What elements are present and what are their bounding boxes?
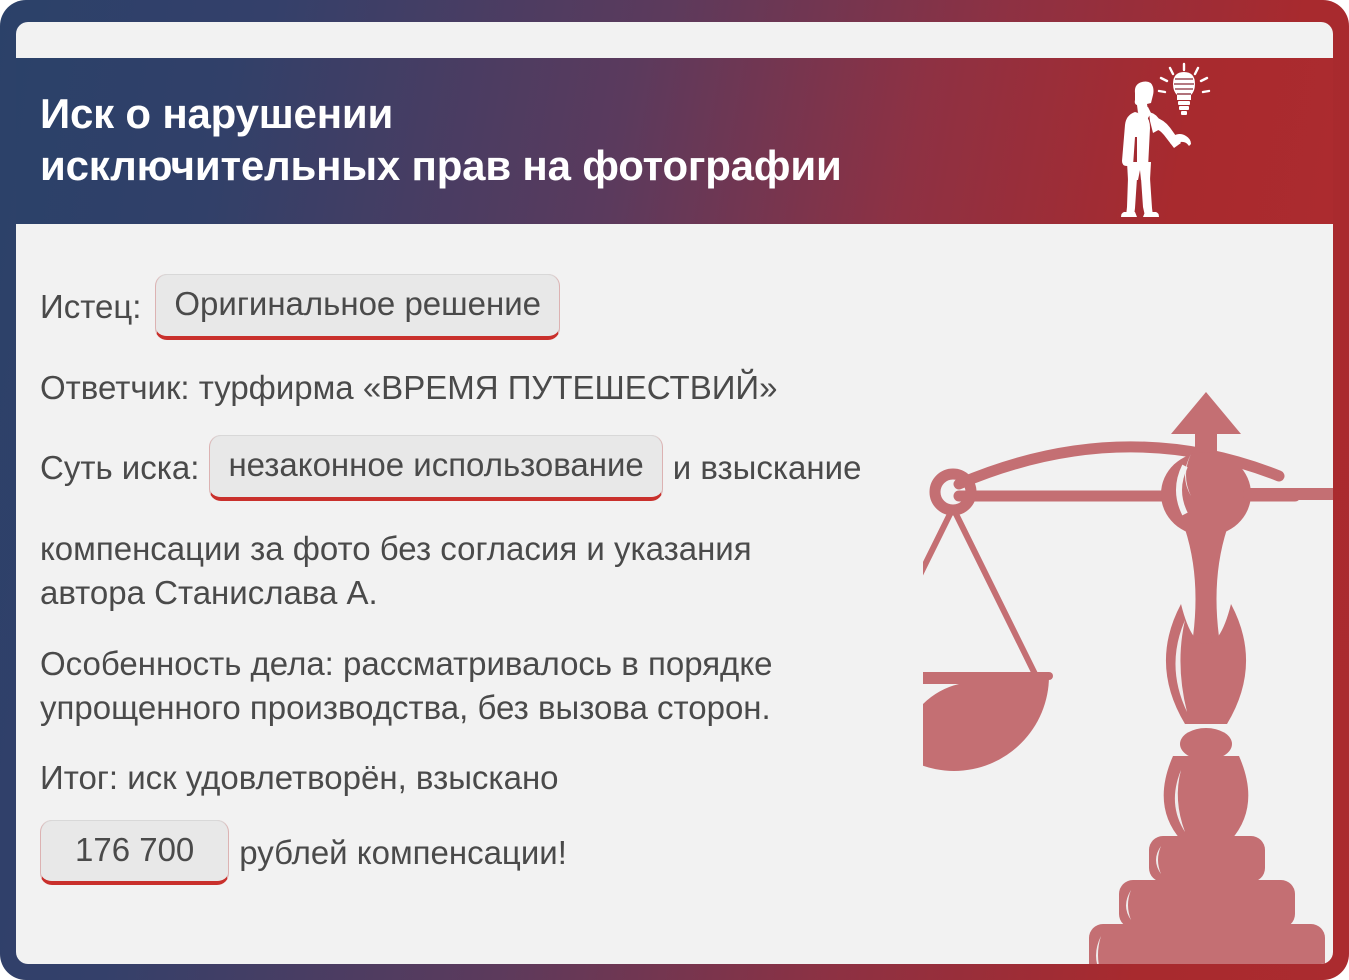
- compensation-amount-pill[interactable]: 176 700: [40, 820, 229, 886]
- card-top-strip: [16, 22, 1333, 58]
- case-feature: Особенность дела: рассматривалось в поря…: [40, 642, 1050, 730]
- card-header-band: Иск о нарушении исключительных прав на ф…: [16, 58, 1333, 224]
- result-lead: Итог: иск удовлетворён, взыскано: [40, 756, 1050, 800]
- claim-trailing-text: и взыскание: [673, 448, 862, 488]
- claim-row: Суть иска: незаконное использование и вз…: [40, 435, 1050, 501]
- businessman-with-lightbulb-icon: [1105, 62, 1225, 220]
- plaintiff-label: Истец:: [40, 287, 141, 327]
- claim-continuation: компенсации за фото без согласия и указа…: [40, 527, 1050, 615]
- card-content-panel: Истец: Оригинальное решение Ответчик: ту…: [16, 224, 1333, 964]
- result-row: 176 700 рублей компенсации!: [40, 820, 1050, 886]
- defendant-line: Ответчик: турфирма «ВРЕМЯ ПУТЕШЕСТВИЙ»: [40, 366, 1050, 410]
- plaintiff-row: Истец: Оригинальное решение: [40, 274, 1050, 340]
- plaintiff-value-pill[interactable]: Оригинальное решение: [155, 274, 560, 340]
- claim-highlight-pill[interactable]: незаконное использование: [209, 435, 662, 501]
- claim-label: Суть иска:: [40, 448, 199, 488]
- infographic-card: Иск о нарушении исключительных прав на ф…: [0, 0, 1349, 980]
- compensation-suffix: рублей компенсации!: [239, 833, 567, 873]
- case-details: Истец: Оригинальное решение Ответчик: ту…: [40, 274, 1050, 885]
- page-title: Иск о нарушении исключительных прав на ф…: [40, 88, 842, 192]
